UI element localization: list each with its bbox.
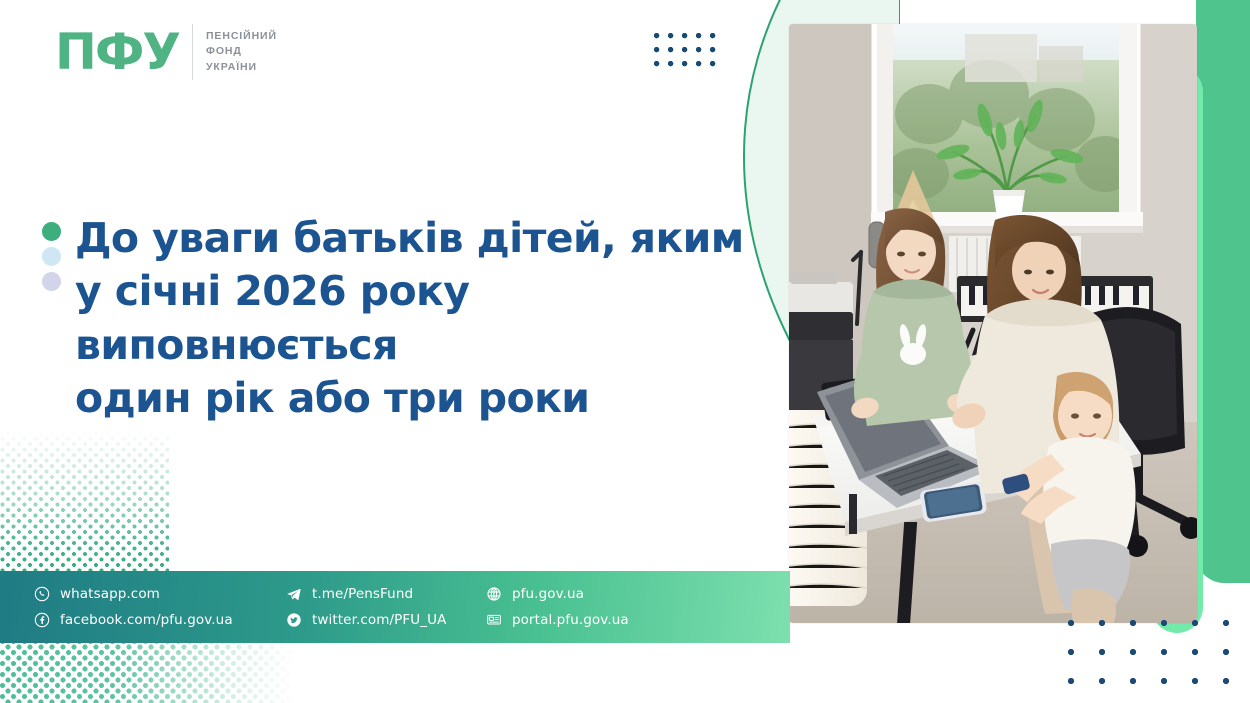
footer-column-2: t.me/PensFund twitter.com/PFU_UA xyxy=(286,586,486,628)
portal-icon xyxy=(486,612,502,628)
decor-dot-grid-top xyxy=(654,33,716,71)
facebook-icon xyxy=(34,612,50,628)
headline-block: До уваги батьків дітей, яким у січні 202… xyxy=(42,212,775,425)
footer-columns: whatsapp.com facebook.com/pfu.gov.ua xyxy=(34,586,790,628)
footer-link-facebook[interactable]: facebook.com/pfu.gov.ua xyxy=(34,612,286,628)
logo-line-3: УКРАЇНИ xyxy=(206,61,277,74)
logo-line-1: ПЕНСІЙНИЙ xyxy=(206,30,277,43)
footer-link-telegram[interactable]: t.me/PensFund xyxy=(286,586,486,602)
footer-column-1: whatsapp.com facebook.com/pfu.gov.ua xyxy=(34,586,286,628)
twitter-icon xyxy=(286,612,302,628)
decor-green-panel-back xyxy=(1196,0,1250,583)
pfu-logo-mark: ПФУ xyxy=(55,27,179,77)
footer-link-label: whatsapp.com xyxy=(60,586,160,602)
footer-link-label: twitter.com/PFU_UA xyxy=(312,612,446,628)
footer-link-label: t.me/PensFund xyxy=(312,586,413,602)
footer-column-3: pfu.gov.ua portal.pfu.gov.ua xyxy=(486,586,686,628)
poster-canvas: ПФУ ПЕНСІЙНИЙ ФОНД УКРАЇНИ До уваги бать… xyxy=(0,0,1250,703)
decor-dot-grid-bottom xyxy=(1068,620,1250,700)
headline-bullet-dots xyxy=(42,222,61,291)
bullet-dot-violet xyxy=(42,272,61,291)
footer-link-portal[interactable]: portal.pfu.gov.ua xyxy=(486,612,686,628)
decor-halftone-bottom xyxy=(0,633,294,703)
bullet-dot-green xyxy=(42,222,61,241)
whatsapp-icon xyxy=(34,586,50,602)
decor-halftone-left xyxy=(0,430,169,575)
logo-divider xyxy=(192,24,193,80)
footer-link-twitter[interactable]: twitter.com/PFU_UA xyxy=(286,612,486,628)
brand-logo[interactable]: ПФУ ПЕНСІЙНИЙ ФОНД УКРАЇНИ xyxy=(55,24,277,80)
footer-link-label: portal.pfu.gov.ua xyxy=(512,612,629,628)
hero-photo xyxy=(789,24,1197,623)
logo-line-2: ФОНД xyxy=(206,45,277,58)
globe-icon xyxy=(486,586,502,602)
logo-wordmark: ПЕНСІЙНИЙ ФОНД УКРАЇНИ xyxy=(206,30,277,74)
footer-link-label: pfu.gov.ua xyxy=(512,586,584,602)
bullet-dot-blue xyxy=(42,247,61,266)
footer-link-website[interactable]: pfu.gov.ua xyxy=(486,586,686,602)
footer-link-label: facebook.com/pfu.gov.ua xyxy=(60,612,233,628)
footer-link-whatsapp[interactable]: whatsapp.com xyxy=(34,586,286,602)
page-title: До уваги батьків дітей, яким у січні 202… xyxy=(75,212,775,425)
telegram-icon xyxy=(286,586,302,602)
footer-contact-bar: whatsapp.com facebook.com/pfu.gov.ua xyxy=(0,571,790,643)
